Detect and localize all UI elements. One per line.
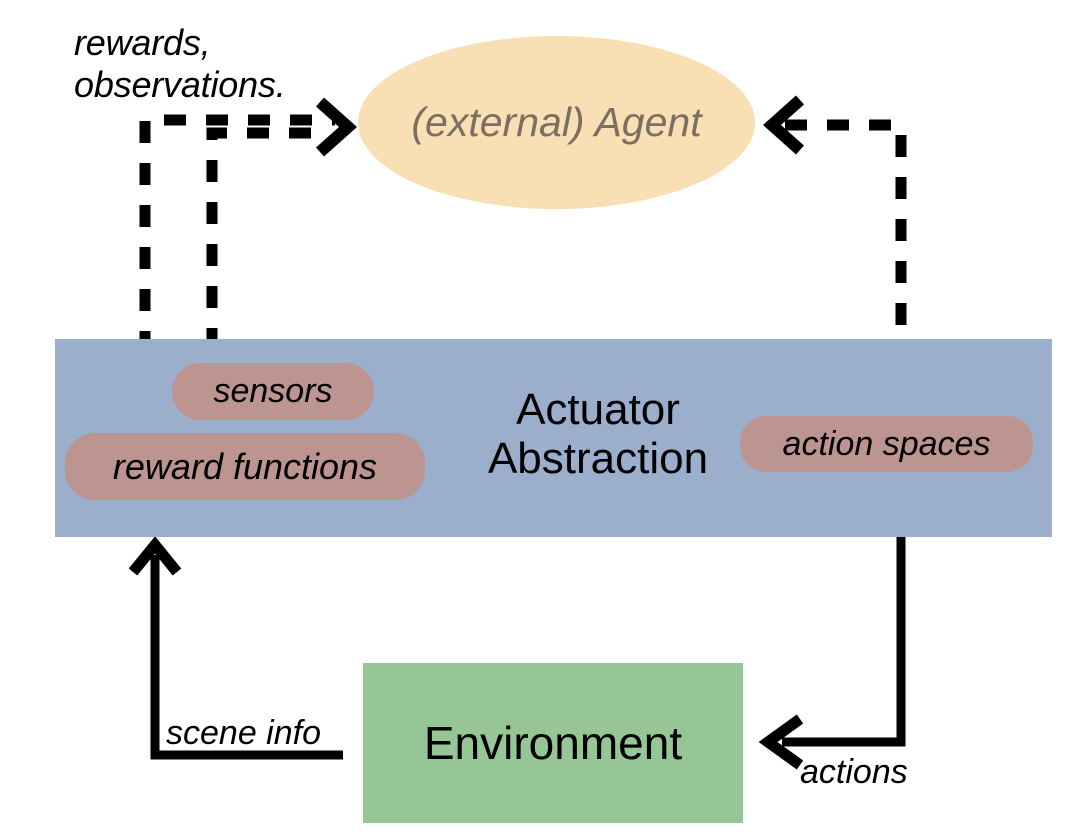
diagram-canvas: rewards, observations. (external) Agent … [0, 0, 1091, 836]
sensors-pill[interactable]: sensors [172, 363, 374, 420]
rewards-observations-edge-label: rewards, observations. [74, 22, 286, 107]
sensors-pill-label: sensors [213, 372, 332, 411]
environment-node[interactable]: Environment [363, 663, 743, 823]
environment-node-label: Environment [424, 716, 682, 770]
reward-functions-pill[interactable]: reward functions [65, 433, 425, 500]
action-spaces-pill-label: action spaces [783, 425, 991, 464]
agent-node[interactable]: (external) Agent [358, 36, 755, 209]
action-spaces-pill[interactable]: action spaces [740, 416, 1033, 472]
actions-edge-label: actions [800, 752, 908, 792]
scene-info-edge-label: scene info [166, 713, 321, 753]
actuator-abstraction-node-label: Actuator Abstraction [473, 385, 723, 484]
agent-node-label: (external) Agent [411, 99, 701, 146]
reward-functions-pill-label: reward functions [113, 446, 377, 488]
